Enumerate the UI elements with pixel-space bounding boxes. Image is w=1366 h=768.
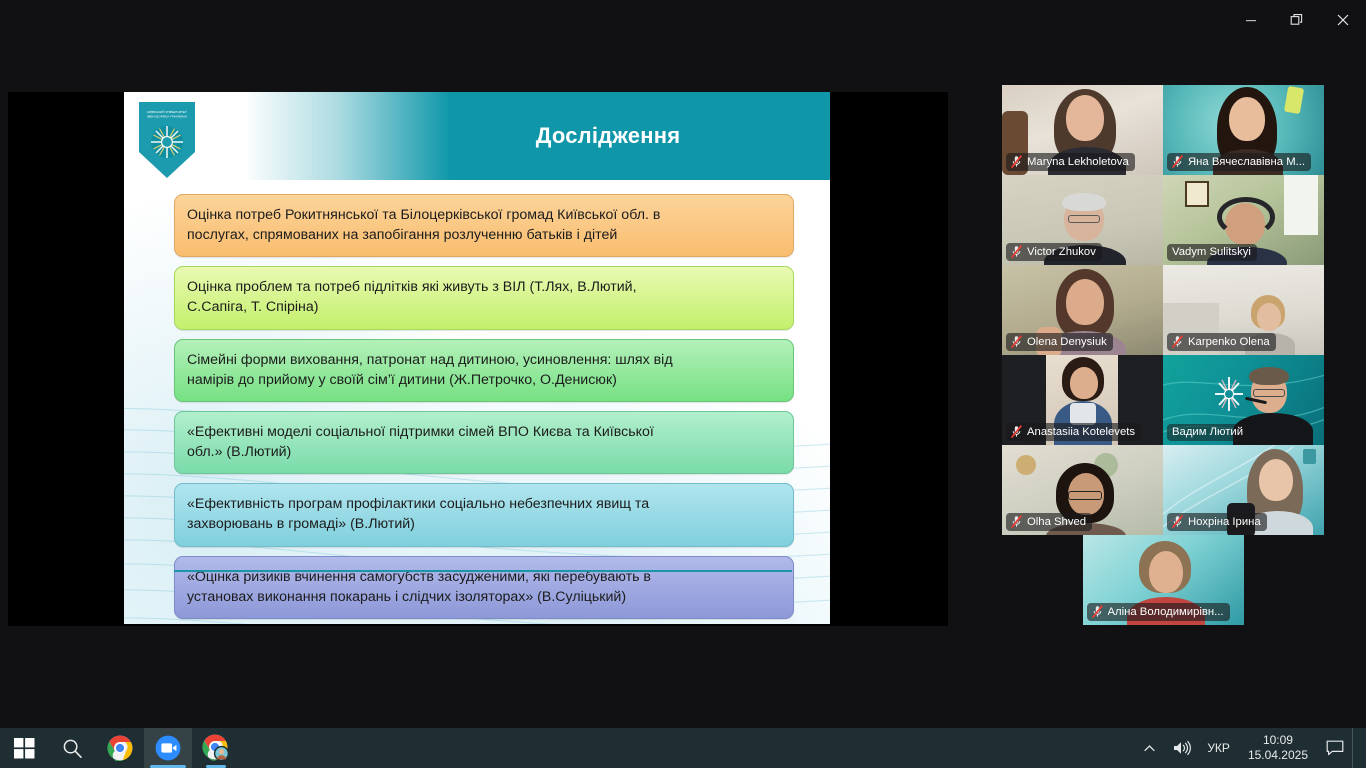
participant-tile-active-speaker[interactable]: Вадим Лютий: [1163, 355, 1324, 445]
research-item: «Ефективні моделі соціальної підтримки с…: [174, 411, 794, 474]
volume-icon: [1172, 740, 1191, 756]
participant-tile[interactable]: Olha Shved: [1002, 445, 1163, 535]
clock-date: 15.04.2025: [1248, 748, 1308, 763]
mic-muted-icon: [1011, 245, 1022, 258]
participant-name: Вадим Лютий: [1172, 426, 1243, 438]
language-label: УКР: [1207, 741, 1230, 755]
close-button[interactable]: [1320, 0, 1366, 40]
window-controls: [1228, 0, 1366, 40]
participant-tile[interactable]: Аліна Володимирівн...: [1083, 535, 1244, 625]
chevron-up-icon: [1143, 742, 1156, 755]
windows-start-icon: [14, 738, 35, 759]
research-item: Сімейні форми виховання, патронат над ди…: [174, 339, 794, 402]
taskbar-search-button[interactable]: [48, 728, 96, 768]
action-center-button[interactable]: [1318, 728, 1352, 768]
participant-name: Нохріна Ірина: [1188, 516, 1261, 528]
clock-time: 10:09: [1263, 733, 1293, 748]
participant-name-badge: Karpenko Olena: [1167, 333, 1276, 351]
taskbar-chrome-button[interactable]: [96, 728, 144, 768]
mic-muted-icon: [1172, 155, 1183, 168]
participant-name: Maryna Lekholetova: [1027, 156, 1129, 168]
zoom-icon: [155, 735, 181, 761]
participant-name-badge: Яна Вячеславівна М...: [1167, 153, 1311, 171]
participant-name-badge: Anastasiia Kotelevets: [1006, 423, 1141, 441]
taskbar-zoom-button[interactable]: [144, 728, 192, 768]
research-item-line: С.Сапіга, Т. Спіріна): [187, 297, 781, 317]
taskbar-apps: [0, 728, 240, 768]
participant-tile[interactable]: Anastasiia Kotelevets: [1002, 355, 1163, 445]
slide-header: Дослідження КИЇВСЬКИЙ УНІВЕРСИТЕТ ІМЕНІ …: [124, 92, 830, 180]
chrome-icon: [107, 735, 133, 761]
research-item-line: «Ефективні моделі соціальної підтримки с…: [187, 422, 781, 442]
research-item-line: «Ефективність програм профілактики соціа…: [187, 494, 781, 514]
slide-divider-rule: [174, 570, 792, 572]
shared-screen-area[interactable]: Дослідження КИЇВСЬКИЙ УНІВЕРСИТЕТ ІМЕНІ …: [8, 92, 948, 626]
research-item: Оцінка проблем та потреб підлітків які ж…: [174, 266, 794, 329]
participant-name-badge: Maryna Lekholetova: [1006, 153, 1135, 171]
presentation-slide: Дослідження КИЇВСЬКИЙ УНІВЕРСИТЕТ ІМЕНІ …: [124, 92, 830, 624]
university-logo-icon: КИЇВСЬКИЙ УНІВЕРСИТЕТ ІМЕНІ БОРИСА ГРІНЧ…: [136, 100, 198, 180]
mic-muted-icon: [1011, 425, 1022, 438]
search-icon: [62, 738, 83, 759]
participant-tile[interactable]: Maryna Lekholetova: [1002, 85, 1163, 175]
research-item: «Ефективність програм профілактики соціа…: [174, 483, 794, 546]
participant-name: Яна Вячеславівна М...: [1188, 156, 1305, 168]
mic-muted-icon: [1011, 155, 1022, 168]
participant-name: Аліна Володимирівн...: [1108, 606, 1224, 618]
participant-tile[interactable]: Vadym Sulitskyi: [1163, 175, 1324, 265]
participant-name: Olena Denysiuk: [1027, 336, 1107, 348]
participant-video-strip: Maryna Lekholetova: [1002, 85, 1324, 625]
research-item-line: обл.» (В.Лютий): [187, 442, 781, 462]
participant-tile[interactable]: Яна Вячеславівна М...: [1163, 85, 1324, 175]
research-item: Оцінка потреб Рокитнянської та Білоцеркі…: [174, 194, 794, 257]
restore-button[interactable]: [1274, 0, 1320, 40]
research-list: Оцінка потреб Рокитнянської та Білоцеркі…: [174, 194, 794, 624]
svg-text:КИЇВСЬКИЙ УНІВЕРСИТЕТ: КИЇВСЬКИЙ УНІВЕРСИТЕТ: [147, 110, 187, 114]
header-stripe-pattern: [248, 92, 450, 180]
notification-icon: [1326, 740, 1344, 756]
participant-name-badge: Olena Denysiuk: [1006, 333, 1113, 351]
participant-tile[interactable]: Victor Zhukov: [1002, 175, 1163, 265]
participant-name-badge: Olha Shved: [1006, 513, 1092, 531]
close-icon: [1336, 13, 1350, 27]
start-button[interactable]: [0, 728, 48, 768]
mic-muted-icon: [1011, 335, 1022, 348]
research-item-line: Сімейні форми виховання, патронат над ди…: [187, 350, 781, 370]
mic-muted-icon: [1172, 335, 1183, 348]
research-item-line: установах виконання покарань і слідчих і…: [187, 587, 781, 607]
mic-muted-icon: [1172, 515, 1183, 528]
research-item-line: послугах, спрямованих на запобігання роз…: [187, 225, 781, 245]
mic-muted-icon: [1011, 515, 1022, 528]
mic-muted-icon: [1092, 605, 1103, 618]
participant-name-badge: Vadym Sulitskyi: [1167, 244, 1257, 261]
tray-volume-button[interactable]: [1164, 728, 1199, 768]
slide-title-band: Дослідження: [450, 92, 830, 180]
taskbar-tray: УКР 10:09 15.04.2025: [1135, 728, 1366, 768]
minimize-button[interactable]: [1228, 0, 1274, 40]
participant-name-badge: Victor Zhukov: [1006, 243, 1102, 261]
participant-tile[interactable]: Karpenko Olena: [1163, 265, 1324, 355]
research-item-line: Оцінка проблем та потреб підлітків які ж…: [187, 277, 781, 297]
participant-name: Karpenko Olena: [1188, 336, 1270, 348]
participant-name-badge: Вадим Лютий: [1167, 424, 1249, 441]
participant-name: Vadym Sulitskyi: [1172, 246, 1251, 258]
participant-tile[interactable]: Olena Denysiuk: [1002, 265, 1163, 355]
tray-language-indicator[interactable]: УКР: [1199, 728, 1238, 768]
participant-row-last: Аліна Володимирівн...: [1002, 535, 1324, 625]
participant-name-badge: Аліна Володимирівн...: [1087, 603, 1230, 621]
chrome-profile-icon: [202, 734, 230, 762]
participant-name-badge: Нохріна Ірина: [1167, 513, 1267, 531]
tray-clock[interactable]: 10:09 15.04.2025: [1238, 728, 1318, 768]
research-item-line: захворювань в громаді» (В.Лютий): [187, 514, 781, 534]
zoom-meeting-window: Дослідження КИЇВСЬКИЙ УНІВЕРСИТЕТ ІМЕНІ …: [0, 0, 1366, 728]
participant-tile[interactable]: Нохріна Ірина: [1163, 445, 1324, 535]
research-item-line: Оцінка потреб Рокитнянської та Білоцеркі…: [187, 205, 781, 225]
research-item-line: намірів до прийому у своїй сім’ї дитини …: [187, 370, 781, 390]
svg-text:ІМЕНІ БОРИСА ГРІНЧЕНКА: ІМЕНІ БОРИСА ГРІНЧЕНКА: [147, 115, 188, 119]
participant-name: Olha Shved: [1027, 516, 1086, 528]
participant-grid: Maryna Lekholetova: [1002, 85, 1324, 535]
research-item: «Оцінка ризиків вчинення самогубств засу…: [174, 556, 794, 619]
tray-overflow-button[interactable]: [1135, 728, 1164, 768]
minimize-icon: [1245, 14, 1257, 26]
windows-taskbar: УКР 10:09 15.04.2025: [0, 728, 1366, 768]
participant-name: Victor Zhukov: [1027, 246, 1096, 258]
slide-title: Дослідження: [536, 123, 681, 149]
participant-name: Anastasiia Kotelevets: [1027, 426, 1135, 438]
taskbar-chrome-profile-button[interactable]: [192, 728, 240, 768]
restore-icon: [1290, 13, 1304, 27]
show-desktop-button[interactable]: [1352, 728, 1362, 768]
